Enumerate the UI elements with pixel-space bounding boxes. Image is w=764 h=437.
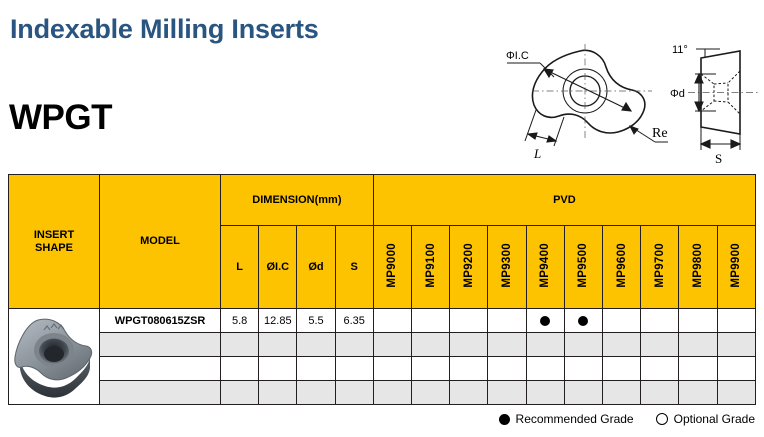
cell-grade-mp9900	[717, 381, 755, 405]
grade-label: MP9300	[501, 243, 513, 288]
cell-grade-mp9000	[373, 357, 411, 381]
grade-label: MP9500	[577, 243, 589, 288]
column-header-insert-shape: INSERT SHAPE	[9, 175, 100, 309]
column-header-model: MODEL	[100, 175, 221, 309]
cell-dim-d: 5.5	[297, 309, 335, 333]
cell-grade-mp9900	[717, 333, 755, 357]
column-header-mp9500: MP9500	[564, 226, 602, 309]
recommended-grade-dot	[540, 316, 550, 326]
cell-grade-mp9300	[488, 333, 526, 357]
column-header-mp9400: MP9400	[526, 226, 564, 309]
table-body: WPGT080615ZSR 5.8 12.85 5.5 6.35	[9, 309, 756, 405]
header-row-groups: INSERT SHAPE MODEL DIMENSION(mm) PVD	[9, 175, 756, 226]
legend-recommended: Recommended Grade	[499, 412, 634, 426]
column-group-pvd: PVD	[373, 175, 755, 226]
cell-grade-mp9400	[526, 357, 564, 381]
column-header-mp9900: MP9900	[717, 226, 755, 309]
wpgt-top-view-graphic	[532, 50, 644, 133]
cell-dim-d	[297, 357, 335, 381]
cell-dim-l	[221, 333, 259, 357]
cell-grade-mp9400	[526, 381, 564, 405]
ic-leader	[507, 63, 554, 77]
ic-dimension-arrow	[544, 69, 631, 111]
column-header-mp9600: MP9600	[603, 226, 641, 309]
cell-dim-s	[335, 381, 373, 405]
cell-dim-s	[335, 333, 373, 357]
cell-grade-mp9300	[488, 357, 526, 381]
cell-grade-mp9700	[641, 309, 679, 333]
cell-grade-mp9800	[679, 357, 717, 381]
cell-dim-l	[221, 357, 259, 381]
table-row: WPGT080615ZSR 5.8 12.85 5.5 6.35	[9, 309, 756, 333]
grade-label: MP9900	[730, 243, 742, 288]
s-dimension-arrow	[701, 140, 740, 148]
legend-optional-label: Optional Grade	[674, 412, 755, 426]
insert-bore-inner	[44, 346, 64, 362]
cell-grade-mp9700	[641, 333, 679, 357]
cell-dim-d	[297, 333, 335, 357]
cell-grade-mp9300	[488, 309, 526, 333]
grade-legend: Recommended Grade Optional Grade	[499, 412, 755, 426]
cell-dim-ic	[259, 357, 297, 381]
cell-grade-mp9600	[603, 381, 641, 405]
label-corner-radius: Re	[652, 126, 668, 141]
cell-grade-mp9100	[412, 333, 450, 357]
cell-model	[100, 357, 221, 381]
grade-label: MP9800	[692, 243, 704, 288]
label-thickness: S	[715, 151, 722, 166]
cell-dim-ic	[259, 333, 297, 357]
cell-grade-mp9800	[679, 333, 717, 357]
grade-label: MP9400	[539, 243, 551, 288]
cell-grade-mp9200	[450, 333, 488, 357]
grade-label: MP9000	[386, 243, 398, 288]
cell-grade-mp9600	[603, 357, 641, 381]
filled-circle-icon	[499, 414, 510, 425]
table-row	[9, 357, 756, 381]
table-header: INSERT SHAPE MODEL DIMENSION(mm) PVD L Ø…	[9, 175, 756, 309]
label-inscribed-circle: ΦI.C	[506, 50, 529, 62]
cell-grade-mp9800	[679, 309, 717, 333]
column-header-mp9800: MP9800	[679, 226, 717, 309]
insert-photo-graphic	[10, 310, 98, 404]
recommended-grade-dot	[578, 316, 588, 326]
cell-grade-mp9500	[564, 333, 602, 357]
cell-grade-mp9300	[488, 381, 526, 405]
insert-family-code: WPGT	[9, 100, 112, 135]
cell-grade-mp9200	[450, 309, 488, 333]
cell-grade-mp9500	[564, 357, 602, 381]
table-row	[9, 381, 756, 405]
cell-grade-mp9400	[526, 309, 564, 333]
column-header-mp9000: MP9000	[373, 226, 411, 309]
cell-grade-mp9500	[564, 381, 602, 405]
column-header-mp9300: MP9300	[488, 226, 526, 309]
technical-drawings: ΦI.C L Re	[492, 38, 760, 166]
cell-grade-mp9200	[450, 357, 488, 381]
label-clearance-angle: 11°	[672, 44, 688, 56]
cell-dim-s: 6.35	[335, 309, 373, 333]
cell-dim-l: 5.8	[221, 309, 259, 333]
label-edge-length: L	[533, 146, 541, 161]
cell-dim-ic	[259, 381, 297, 405]
cell-grade-mp9100	[412, 381, 450, 405]
legend-optional: Optional Grade	[656, 412, 755, 426]
open-circle-icon	[656, 413, 668, 425]
insert-shape-cell	[9, 309, 100, 405]
cell-grade-mp9600	[603, 309, 641, 333]
specification-table: INSERT SHAPE MODEL DIMENSION(mm) PVD L Ø…	[8, 174, 756, 405]
cell-model: WPGT080615ZSR	[100, 309, 221, 333]
grade-label: MP9100	[425, 243, 437, 288]
cell-dim-ic: 12.85	[259, 309, 297, 333]
cell-grade-mp9000	[373, 381, 411, 405]
l-dimension-arrow	[528, 133, 556, 142]
column-header-ic: ØI.C	[259, 226, 297, 309]
cell-grade-mp9000	[373, 309, 411, 333]
column-header-l: L	[221, 226, 259, 309]
grade-label: MP9600	[616, 243, 628, 288]
cell-grade-mp9600	[603, 333, 641, 357]
cell-grade-mp9200	[450, 381, 488, 405]
cell-model	[100, 333, 221, 357]
cell-model	[100, 381, 221, 405]
cell-dim-l	[221, 381, 259, 405]
insert-shape-line1: INSERT	[9, 229, 99, 242]
cell-grade-mp9400	[526, 333, 564, 357]
cell-dim-d	[297, 381, 335, 405]
cell-grade-mp9700	[641, 381, 679, 405]
grade-label: MP9200	[463, 243, 475, 288]
cell-grade-mp9900	[717, 357, 755, 381]
legend-recommended-label: Recommended Grade	[516, 412, 634, 426]
label-hole-diameter: Φd	[670, 88, 685, 100]
column-header-d: Ød	[297, 226, 335, 309]
cell-grade-mp9800	[679, 381, 717, 405]
column-group-dimension: DIMENSION(mm)	[221, 175, 374, 226]
column-header-mp9100: MP9100	[412, 226, 450, 309]
column-header-mp9200: MP9200	[450, 226, 488, 309]
cell-grade-mp9700	[641, 357, 679, 381]
page-title: Indexable Milling Inserts	[10, 14, 319, 45]
cell-grade-mp9500	[564, 309, 602, 333]
cell-grade-mp9100	[412, 309, 450, 333]
cell-grade-mp9900	[717, 309, 755, 333]
grade-label: MP9700	[654, 243, 666, 288]
column-header-mp9700: MP9700	[641, 226, 679, 309]
table-row	[9, 333, 756, 357]
cell-grade-mp9100	[412, 357, 450, 381]
drawings-svg: ΦI.C L Re	[492, 38, 760, 166]
insert-shape-line2: SHAPE	[9, 242, 99, 255]
cell-grade-mp9000	[373, 333, 411, 357]
column-header-s: S	[335, 226, 373, 309]
cell-dim-s	[335, 357, 373, 381]
